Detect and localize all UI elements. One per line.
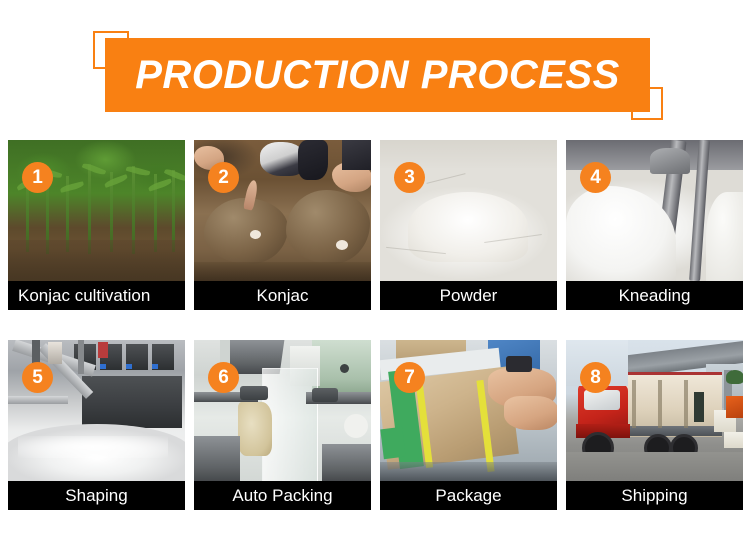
process-step-card-7[interactable]: 7 Package — [380, 340, 557, 510]
step-caption-3: Powder — [380, 281, 557, 310]
step-caption-2: Konjac — [194, 281, 371, 310]
step-caption-1: Konjac cultivation — [8, 281, 185, 310]
step-badge-8: 8 — [580, 362, 611, 393]
step-badge-7: 7 — [394, 362, 425, 393]
step-badge-3: 3 — [394, 162, 425, 193]
step-badge-1: 1 — [22, 162, 53, 193]
process-row-1: 1 Konjac cultivation 2 Konjac — [0, 140, 750, 310]
step-badge-5: 5 — [22, 362, 53, 393]
process-step-card-3[interactable]: 3 Powder — [380, 140, 557, 310]
process-step-card-8[interactable]: 8 Shipping — [566, 340, 743, 510]
step-caption-5: Shaping — [8, 481, 185, 510]
process-row-2: 5 Shaping 6 Auto Packing — [0, 340, 750, 510]
step-caption-4: Kneading — [566, 281, 743, 310]
step-caption-7: Package — [380, 481, 557, 510]
process-step-card-4[interactable]: 4 Kneading — [566, 140, 743, 310]
step-badge-2: 2 — [208, 162, 239, 193]
step-caption-8: Shipping — [566, 481, 743, 510]
title-banner: PRODUCTION PROCESS — [105, 38, 650, 112]
page-header: PRODUCTION PROCESS — [0, 0, 750, 140]
page-title: PRODUCTION PROCESS — [135, 55, 620, 95]
step-badge-4: 4 — [580, 162, 611, 193]
step-badge-6: 6 — [208, 362, 239, 393]
process-step-card-2[interactable]: 2 Konjac — [194, 140, 371, 310]
step-caption-6: Auto Packing — [194, 481, 371, 510]
process-step-grid: 1 Konjac cultivation 2 Konjac — [0, 140, 750, 540]
process-step-card-5[interactable]: 5 Shaping — [8, 340, 185, 510]
process-step-card-6[interactable]: 6 Auto Packing — [194, 340, 371, 510]
process-step-card-1[interactable]: 1 Konjac cultivation — [8, 140, 185, 310]
